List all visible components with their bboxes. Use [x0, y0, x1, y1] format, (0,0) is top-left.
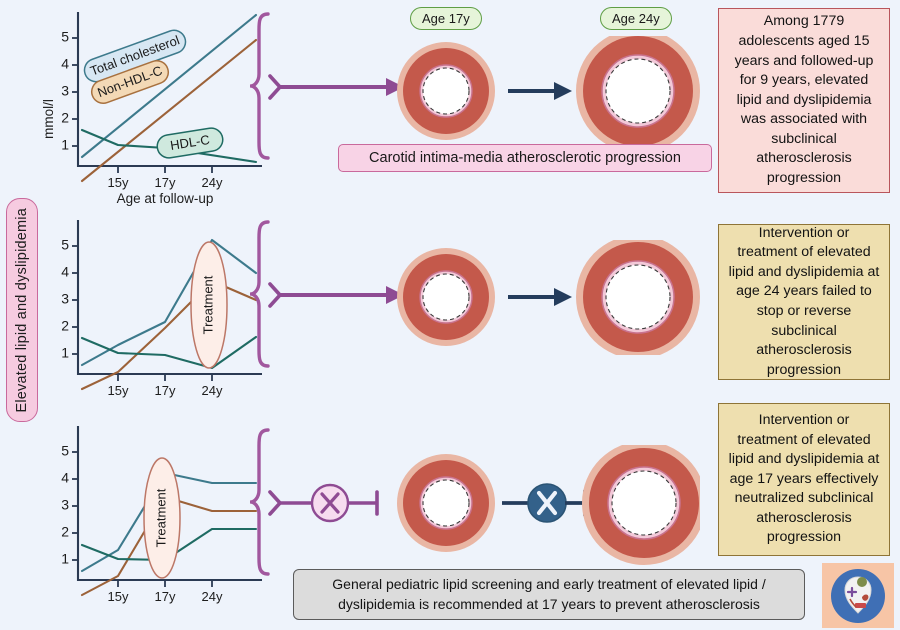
y-tick-1: 1 [61, 551, 69, 567]
x-tick-15y: 15y [108, 383, 129, 398]
x-tick-15y: 15y [108, 589, 129, 604]
figure-canvas: Elevated lipid and dyslipidemia 5 4 3 2 … [0, 0, 900, 630]
age-pill-17y-text: Age 17y [422, 11, 470, 26]
progression-arrow-row2 [508, 288, 572, 306]
brace-row2 [251, 222, 268, 366]
artery-large-row2 [576, 240, 700, 355]
footer-recommendation-banner: General pediatric lipid screening and ea… [293, 569, 805, 620]
side-label-elevated-lipid: Elevated lipid and dyslipidemia [6, 198, 38, 422]
y-tick-5: 5 [61, 29, 69, 45]
artery-small-row2 [397, 248, 495, 346]
line-total-cholesterol [82, 240, 256, 365]
chart-row3: 5 4 3 2 1 15y 17y 24y Treatment [40, 418, 280, 608]
progression-arrow-row1 [508, 82, 572, 100]
age-pill-24y-text: Age 24y [612, 11, 660, 26]
arrow-row1 [270, 76, 404, 98]
y-axis-title: mmol/l [41, 99, 56, 139]
footer-recommendation-text: General pediatric lipid screening and ea… [308, 575, 790, 615]
line-non-hdl-c [82, 281, 256, 389]
brace-row3 [251, 430, 268, 574]
age-pill-17y: Age 17y [410, 7, 482, 30]
heart-anatomy-logo [822, 563, 894, 628]
artery-small-row1 [397, 42, 495, 140]
y-ticks: 5 4 3 2 1 [61, 237, 78, 361]
chart-row3-svg: 5 4 3 2 1 15y 17y 24y Treatment [40, 418, 280, 608]
blocked-connector-row3 [270, 485, 377, 521]
conclusion-box-row1-text: Among 1779 adolescents aged 15 years and… [728, 12, 880, 188]
conclusion-box-row2-text: Intervention or treatment of elevated li… [728, 224, 880, 381]
y-tick-5: 5 [61, 237, 69, 253]
conclusion-box-row1: Among 1779 adolescents aged 15 years and… [718, 8, 890, 193]
chart-row2-svg: 5 4 3 2 1 15y 17y 24y Treatment [40, 212, 280, 392]
y-ticks: 5 4 3 2 1 [61, 443, 78, 567]
arrow-row2 [270, 284, 404, 306]
x-tick-15y: 15y [108, 175, 129, 190]
chart-row2: 5 4 3 2 1 15y 17y 24y Treatment [40, 212, 280, 392]
y-tick-4: 4 [61, 56, 69, 72]
x-ticks: 15y 17y 24y [108, 580, 223, 604]
line-hdl-c [82, 337, 256, 368]
artery-pair-row2 [390, 240, 700, 355]
x-tick-24y: 24y [202, 383, 223, 398]
conclusion-box-row3: Intervention or treatment of elevated li… [718, 403, 890, 556]
y-tick-2: 2 [61, 318, 69, 334]
block-x-badge-navy [528, 484, 566, 522]
side-label-text: Elevated lipid and dyslipidemia [14, 208, 30, 413]
y-ticks: 5 4 3 2 1 [61, 29, 78, 153]
y-tick-4: 4 [61, 470, 69, 486]
heart-anatomy-logo-svg [828, 567, 888, 625]
artery-pair-row3 [390, 445, 700, 565]
conclusion-box-row3-text: Intervention or treatment of elevated li… [728, 411, 880, 548]
brace-row1 [251, 14, 268, 158]
artery-large-row1 [576, 36, 700, 146]
conclusion-box-row2: Intervention or treatment of elevated li… [718, 224, 890, 380]
x-tick-17y: 17y [155, 589, 176, 604]
y-tick-3: 3 [61, 291, 69, 307]
x-ticks: 15y 17y 24y [108, 166, 223, 190]
treatment-ellipse-row3: Treatment [144, 458, 180, 578]
artery-small-row3 [397, 454, 495, 552]
y-tick-4: 4 [61, 264, 69, 280]
x-tick-17y: 17y [155, 383, 176, 398]
x-axis-title: Age at follow-up [117, 191, 214, 206]
carotid-progression-banner: Carotid intima-media atherosclerotic pro… [338, 144, 712, 172]
y-tick-1: 1 [61, 137, 69, 153]
artery-large-row3 [582, 445, 700, 565]
treatment-label-row2: Treatment [200, 275, 215, 334]
x-tick-17y: 17y [155, 175, 176, 190]
artery-pair-row1 [390, 36, 700, 146]
carotid-progression-banner-text: Carotid intima-media atherosclerotic pro… [369, 150, 681, 166]
treatment-label-row3: Treatment [153, 488, 168, 547]
x-tick-24y: 24y [202, 175, 223, 190]
block-x-badge-purple [312, 485, 348, 521]
x-ticks: 15y 17y 24y [108, 374, 223, 398]
y-tick-5: 5 [61, 443, 69, 459]
y-tick-2: 2 [61, 524, 69, 540]
x-tick-24y: 24y [202, 589, 223, 604]
y-tick-2: 2 [61, 110, 69, 126]
treatment-ellipse-row2: Treatment [191, 242, 227, 368]
chart-row1-svg: 5 4 3 2 1 15y 17y 24y mmol/l Age at foll… [40, 4, 280, 204]
blocked-progression-row3 [502, 484, 585, 522]
y-tick-1: 1 [61, 345, 69, 361]
age-pill-24y: Age 24y [600, 7, 672, 30]
y-tick-3: 3 [61, 497, 69, 513]
chart-row1: 5 4 3 2 1 15y 17y 24y mmol/l Age at foll… [40, 4, 280, 204]
y-tick-3: 3 [61, 83, 69, 99]
